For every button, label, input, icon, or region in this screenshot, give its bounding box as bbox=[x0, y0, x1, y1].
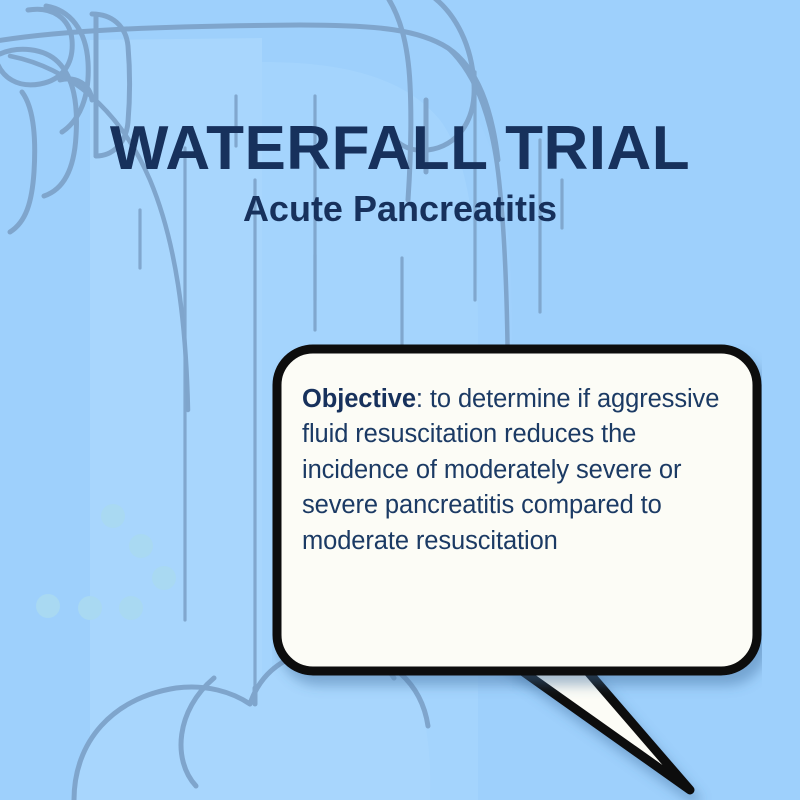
objective-text: Objective: to determine if aggressive fl… bbox=[302, 382, 736, 559]
mist-dot bbox=[119, 596, 143, 620]
mist-dot bbox=[152, 566, 176, 590]
page-title: WATERFALL TRIAL bbox=[0, 118, 800, 180]
mist-dot bbox=[101, 504, 125, 528]
page-subtitle: Acute Pancreatitis bbox=[0, 190, 800, 228]
objective-label: Objective bbox=[302, 385, 416, 413]
mist-dot-group bbox=[36, 504, 176, 620]
mist-dot bbox=[36, 594, 60, 618]
heading-block: WATERFALL TRIAL Acute Pancreatitis bbox=[0, 118, 800, 228]
objective-separator: : bbox=[416, 385, 430, 413]
poster-canvas: WATERFALL TRIAL Acute Pancreatitis Objec… bbox=[0, 0, 800, 800]
mist-dot bbox=[129, 534, 153, 558]
objective-speech-bubble: Objective: to determine if aggressive fl… bbox=[272, 344, 762, 800]
mist-dot bbox=[78, 596, 102, 620]
